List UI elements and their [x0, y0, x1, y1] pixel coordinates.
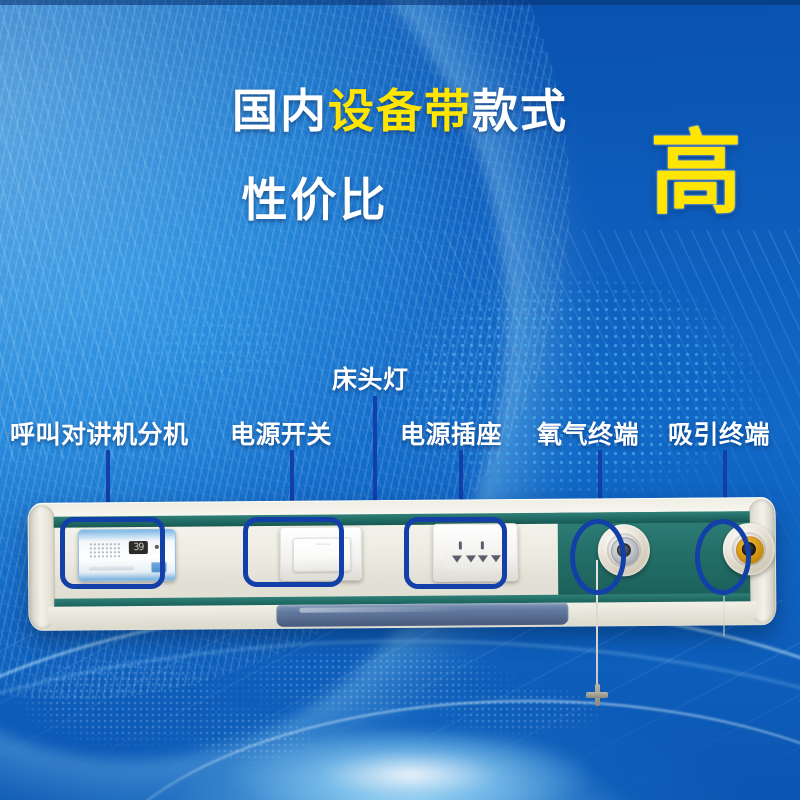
- highlight-box-intercom: [60, 517, 165, 589]
- callout-label-oxygen: 氧气终端: [537, 415, 639, 451]
- headline-seg-3: 款式: [472, 85, 568, 137]
- callout-label-bedlamp: 床头灯: [332, 360, 409, 396]
- headline-line-2-row: 性价比 高: [0, 164, 800, 238]
- cord-cross-fitting-icon: [586, 684, 608, 706]
- headline-line-2: 性价比: [0, 164, 715, 230]
- poster-canvas: 国内设备带款式 性价比 高 呼叫对讲机分机 电源开关 床头灯 电源插座 氧气终端…: [0, 0, 800, 800]
- highlight-box-socket: [404, 517, 507, 589]
- halftone-dot-map-small: [100, 285, 330, 405]
- callout-label-suction: 吸引终端: [668, 415, 770, 451]
- headline-emphasis-char: 高: [650, 128, 742, 220]
- headline-block: 国内设备带款式 性价比 高: [0, 88, 800, 238]
- highlight-box-switch: [243, 517, 344, 587]
- top-edge-band: [0, 0, 800, 5]
- callout-label-intercom: 呼叫对讲机分机: [10, 415, 189, 451]
- callout-label-switch: 电源开关: [230, 415, 332, 451]
- bed-lamp-diffuser[interactable]: [276, 603, 568, 627]
- headline-seg-1: 国内: [232, 85, 328, 137]
- highlight-box-oxygen: [570, 519, 626, 595]
- suction-cord: [723, 596, 725, 636]
- highlight-box-suction: [695, 519, 751, 595]
- callout-label-socket: 电源插座: [400, 415, 502, 451]
- headline-seg-2-highlight: 设备带: [328, 85, 472, 137]
